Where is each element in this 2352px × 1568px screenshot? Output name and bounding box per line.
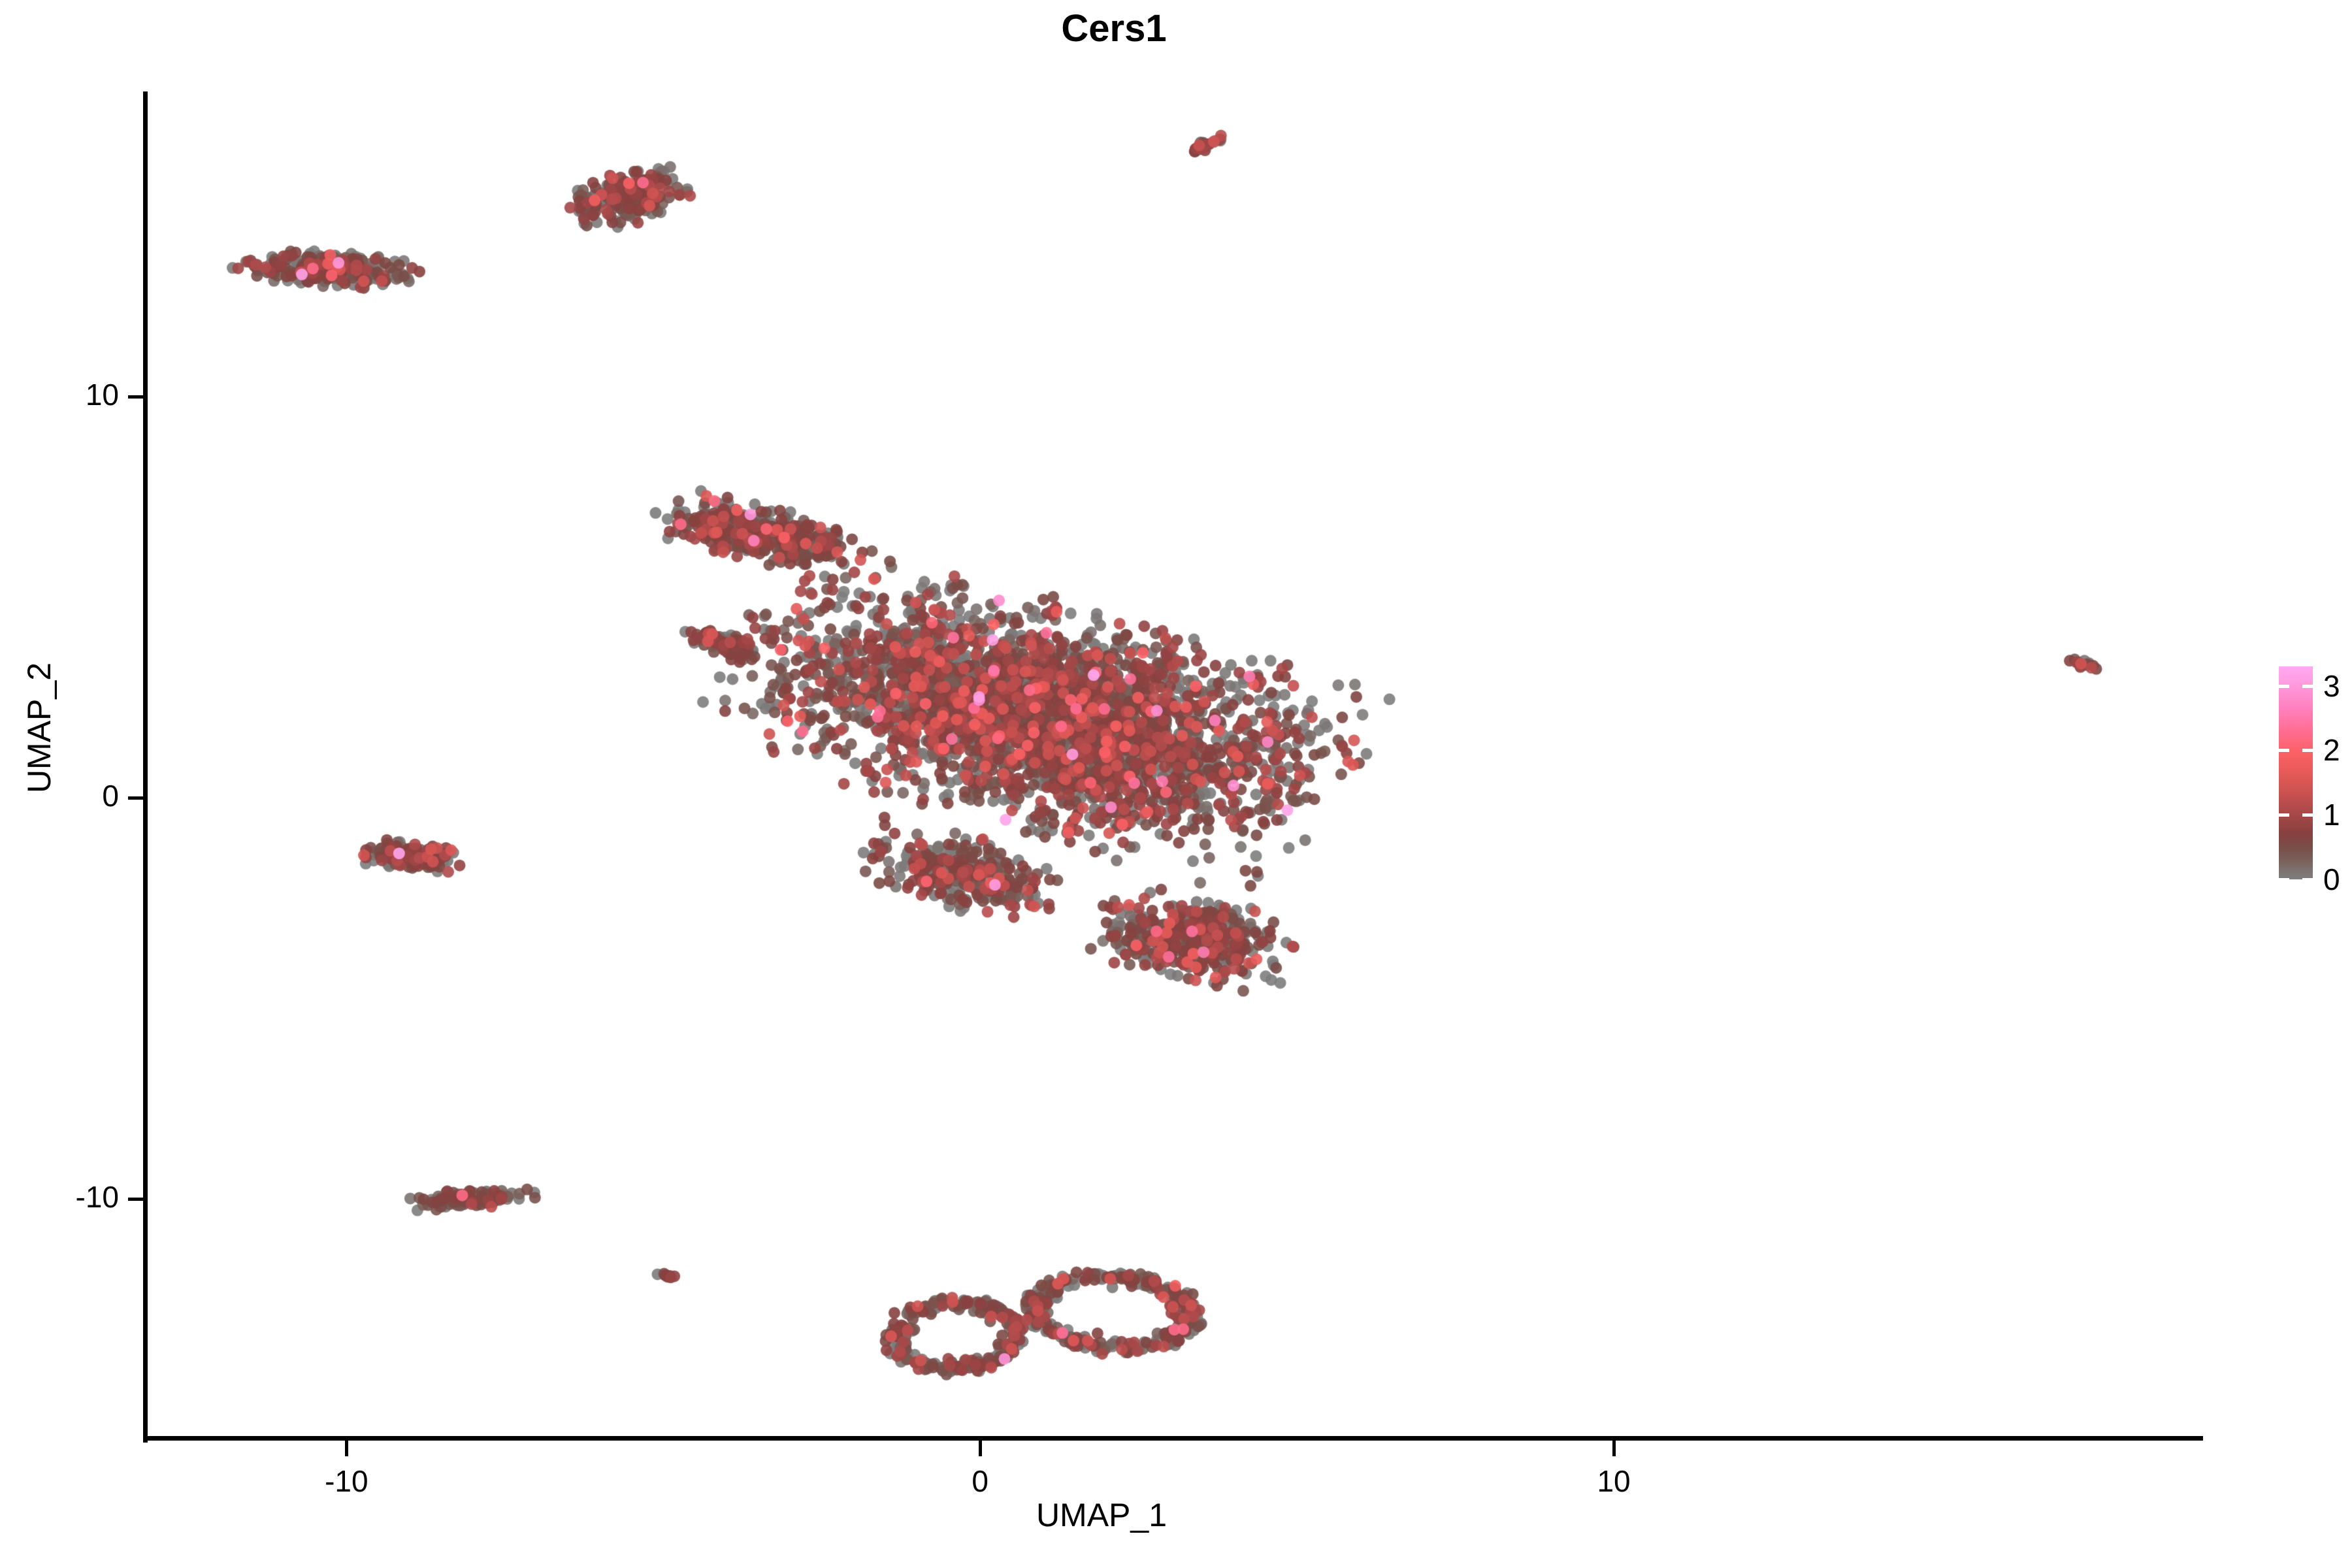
x-axis-tick-0 (979, 1441, 982, 1456)
scatter-points-layer (144, 91, 2203, 1440)
colorbar-label-0: 0 (2323, 862, 2340, 897)
colorbar-label-2: 2 (2323, 732, 2340, 768)
x-axis-tick-neg10 (345, 1441, 348, 1456)
colorbar-tick-3-right (2302, 685, 2313, 688)
y-axis-tick-0 (128, 796, 144, 800)
colorbar-tick-0-right (2302, 878, 2313, 881)
colorbar-tick-1-right (2302, 813, 2313, 817)
y-axis-tick-neg10 (128, 1198, 144, 1201)
page-title: Cers1 (59, 7, 2169, 50)
x-axis-tick-label-0: 0 (972, 1463, 988, 1499)
y-axis-line (143, 91, 148, 1443)
umap-feature-plot: Cers1 10 0 -10 -10 0 10 UMAP_1 UMAP_2 3 … (0, 0, 2352, 1568)
x-axis-title: UMAP_1 (0, 1496, 2203, 1534)
colorbar-tick-2-left (2279, 749, 2289, 752)
plot-panel (144, 91, 2203, 1440)
y-axis-tick-label-neg10: -10 (76, 1179, 119, 1215)
x-axis-tick-label-neg10: -10 (325, 1463, 368, 1499)
colorbar-tick-0-left (2279, 878, 2289, 881)
colorbar-tick-1-left (2279, 813, 2289, 817)
y-axis-tick-label-10: 10 (86, 377, 119, 412)
colorbar-gradient (2279, 666, 2313, 879)
y-axis-tick-label-0: 0 (102, 778, 119, 813)
colorbar-label-3: 3 (2323, 668, 2340, 704)
x-axis-tick-label-10: 10 (1597, 1463, 1630, 1499)
y-axis-title: UMAP_2 (20, 532, 58, 924)
colorbar-tick-3-left (2279, 685, 2289, 688)
colorbar-tick-2-right (2302, 749, 2313, 752)
y-axis-tick-10 (128, 395, 144, 399)
colorbar-label-1: 1 (2323, 797, 2340, 832)
x-axis-tick-10 (1612, 1441, 1616, 1456)
x-axis-line (143, 1436, 2203, 1441)
colorbar-legend: 3 2 1 0 (2279, 666, 2351, 889)
